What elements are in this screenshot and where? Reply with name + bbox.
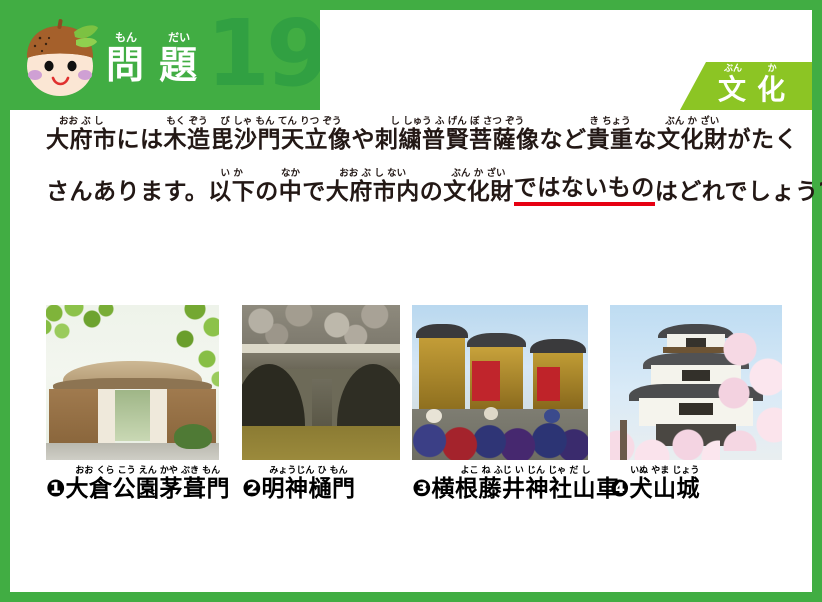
kanji-base: 横根藤井神社山車 xyxy=(431,476,619,503)
participant-head xyxy=(484,407,498,419)
kanji-base: 刺繍普賢菩薩像 xyxy=(375,127,540,154)
kanji-base: 明神樋門 xyxy=(261,476,355,503)
furigana: なか xyxy=(279,168,303,179)
kanji-base: 大府市内 xyxy=(326,179,420,206)
stone-arch-right xyxy=(337,364,400,426)
answer-option-2-label: ❷みょうじん ひ もん明神樋門 xyxy=(242,465,412,503)
water-surface xyxy=(242,426,400,460)
option-3-name-ruby-group-0: よこ ね ふじ い じん じゃ だ し横根藤井神社山車 xyxy=(431,466,619,503)
kanji-base: 以下 xyxy=(208,179,255,206)
cherry-blossom-branch xyxy=(710,333,782,451)
furigana: い か xyxy=(208,168,255,179)
gate-wall-left xyxy=(49,389,97,445)
kanji-base: 木造 xyxy=(164,127,211,154)
participant-head xyxy=(544,409,560,423)
furigana: ぶん か ざい xyxy=(443,168,514,179)
kanji-base: 犬山城 xyxy=(629,476,700,503)
badge-char-2: か 化 xyxy=(757,64,787,106)
title-char-2: だい 題 xyxy=(159,32,199,87)
option-1-name-ruby-group-0: おお くら こう えん かや ぶき もん大倉公園茅葺門 xyxy=(65,466,230,503)
slide-frame: 19 xyxy=(0,0,822,602)
answer-option-2[interactable]: ❷みょうじん ひ もん明神樋門 xyxy=(242,305,412,503)
question-line-1-ruby-group-0: おお ぶ し大府市 xyxy=(46,116,117,154)
question-line-2-ruby-group-1: い か以下 xyxy=(208,168,255,206)
furigana: よこ ね ふじ い じん じゃ だ し xyxy=(431,466,619,476)
question-line-2-ruby-group-7: ぶん か ざい文化財 xyxy=(443,168,514,206)
stone-masonry xyxy=(242,305,400,345)
gate-plaster-right xyxy=(150,389,167,445)
center-pier xyxy=(312,379,333,432)
option-number-1: ❶ xyxy=(46,465,65,503)
castle-window xyxy=(686,338,707,347)
roof-eave xyxy=(53,378,212,389)
answer-option-1[interactable]: ❶おお くら こう えん かや ぶき もん大倉公園茅葺門 xyxy=(46,305,242,503)
float-roof xyxy=(467,333,527,347)
acorn-mascot-icon xyxy=(18,18,102,102)
question-line-1-ruby-group-9: ぶん か ざい文化財 xyxy=(657,116,728,154)
float-roof xyxy=(530,339,586,353)
festival-float xyxy=(419,330,465,411)
furigana: ぶん か ざい xyxy=(657,116,728,127)
gate-opening xyxy=(115,390,150,441)
option-2-name-ruby-group-0: みょうじん ひ もん明神樋門 xyxy=(261,466,355,503)
gate-plaster-left xyxy=(98,389,115,445)
foliage-decoration xyxy=(46,305,126,359)
question-line-1: おお ぶ し大府市にはもく ぞう木造び しゃ もん てん りつ ぞう毘沙門天立像… xyxy=(46,116,776,154)
furigana: き ちょう xyxy=(587,116,634,127)
furigana: みょうじん ひ もん xyxy=(261,466,355,476)
kanji-base: 文化財 xyxy=(657,127,728,154)
answer-option-1-label: ❶おお くら こう えん かや ぶき もん大倉公園茅葺門 xyxy=(46,465,242,503)
furigana: おお ぶ し ない xyxy=(326,168,420,179)
question-line-2-plain-0: さんあります。 xyxy=(46,168,208,206)
question-line-1-ruby-group-3: び しゃ もん てん りつ ぞう毘沙門天立像 xyxy=(211,116,352,154)
kanji-base: 文化財 xyxy=(443,179,514,206)
furigana: いぬ やま じょう xyxy=(629,466,700,476)
answer-option-3[interactable]: ❸よこ ね ふじ い じん じゃ だ し横根藤井神社山車 xyxy=(412,305,610,503)
okura-park-thatched-gate-photo[interactable] xyxy=(46,305,219,460)
question-line-2-tail: はどれでしょう? xyxy=(655,168,822,206)
inuyama-castle-photo[interactable] xyxy=(610,305,782,460)
question-line-1-plain-1: には xyxy=(117,116,164,154)
question-line-2-plain-4: で xyxy=(302,168,326,206)
question-line-2-plain-6: の xyxy=(420,168,444,206)
stone-arch-left xyxy=(242,364,305,426)
kanji-base: 中 xyxy=(279,179,303,206)
furigana: び しゃ もん てん りつ ぞう xyxy=(211,116,352,127)
question-line-2-ruby-group-3: なか中 xyxy=(279,168,303,206)
category-badge-text: ぶん 文 か 化 xyxy=(718,64,787,106)
kanji-base: 大府市 xyxy=(46,127,117,154)
kanji-base: 大倉公園茅葺門 xyxy=(65,476,230,503)
float-roof xyxy=(416,324,469,338)
castle-window xyxy=(679,403,713,415)
question-header-block: 19 xyxy=(10,10,320,110)
furigana: おお くら こう えん かや ぶき もん xyxy=(65,466,230,476)
answer-option-4-label: ❹いぬ やま じょう犬山城 xyxy=(610,465,786,503)
title-char-1: もん 問 xyxy=(106,32,146,87)
question-line-2-ruby-group-5: おお ぶ し ない大府市内 xyxy=(326,168,420,206)
kanji-base: 貴重 xyxy=(587,127,634,154)
question-number-watermark: 19 xyxy=(206,10,320,102)
furigana: おお ぶ し xyxy=(46,116,117,127)
shrub xyxy=(174,424,212,449)
option-number-4: ❹ xyxy=(610,465,629,503)
red-curtain xyxy=(472,361,500,401)
participant-head xyxy=(426,409,442,423)
castle-window xyxy=(682,370,710,381)
furigana: し しゅう ふ げん ぼ さつ ぞう xyxy=(375,116,540,127)
answer-option-3-label: ❸よこ ね ふじ い じん じゃ だ し横根藤井神社山車 xyxy=(412,465,610,503)
myojin-sluice-gate-photo[interactable] xyxy=(242,305,400,460)
question-line-1-plain-8: な xyxy=(634,116,658,154)
slide-page: 19 xyxy=(10,10,812,592)
question-line-1-ruby-group-7: き ちょう貴重 xyxy=(587,116,634,154)
kanji-base: 毘沙門天立像 xyxy=(211,127,352,154)
option-4-name-ruby-group-0: いぬ やま じょう犬山城 xyxy=(629,466,700,503)
question-line-2: さんあります。い か以下のなか中でおお ぶ し ない大府市内のぶん か ざい文化… xyxy=(46,164,776,206)
question-line-1-ruby-group-5: し しゅう ふ げん ぼ さつ ぞう刺繍普賢菩薩像 xyxy=(375,116,540,154)
red-curtain xyxy=(537,367,560,401)
question-line-1-plain-4: や xyxy=(352,116,376,154)
category-badge: ぶん 文 か 化 xyxy=(680,62,812,110)
furigana: もく ぞう xyxy=(164,116,211,127)
question-emphasis-underlined: ではないもの xyxy=(514,164,655,206)
question-line-2-plain-2: の xyxy=(255,168,279,206)
option-number-2: ❷ xyxy=(242,465,261,503)
answer-options: ❶おお くら こう えん かや ぶき もん大倉公園茅葺門 ❷みょうじん ひ もん… xyxy=(46,305,786,503)
option-number-3: ❸ xyxy=(412,465,431,503)
question-line-1-plain-6: など xyxy=(540,116,587,154)
answer-option-4[interactable]: ❹いぬ やま じょう犬山城 xyxy=(610,305,786,503)
question-line-1-plain-10: がたく xyxy=(728,116,799,154)
tree-trunk xyxy=(620,420,627,460)
question-title: もん 問 だい 題 xyxy=(106,32,199,87)
question-text: おお ぶ し大府市にはもく ぞう木造び しゃ もん てん りつ ぞう毘沙門天立像… xyxy=(46,116,776,216)
question-line-1-ruby-group-2: もく ぞう木造 xyxy=(164,116,211,154)
badge-char-1: ぶん 文 xyxy=(718,64,748,106)
yokone-fujii-shrine-float-photo[interactable] xyxy=(412,305,588,460)
